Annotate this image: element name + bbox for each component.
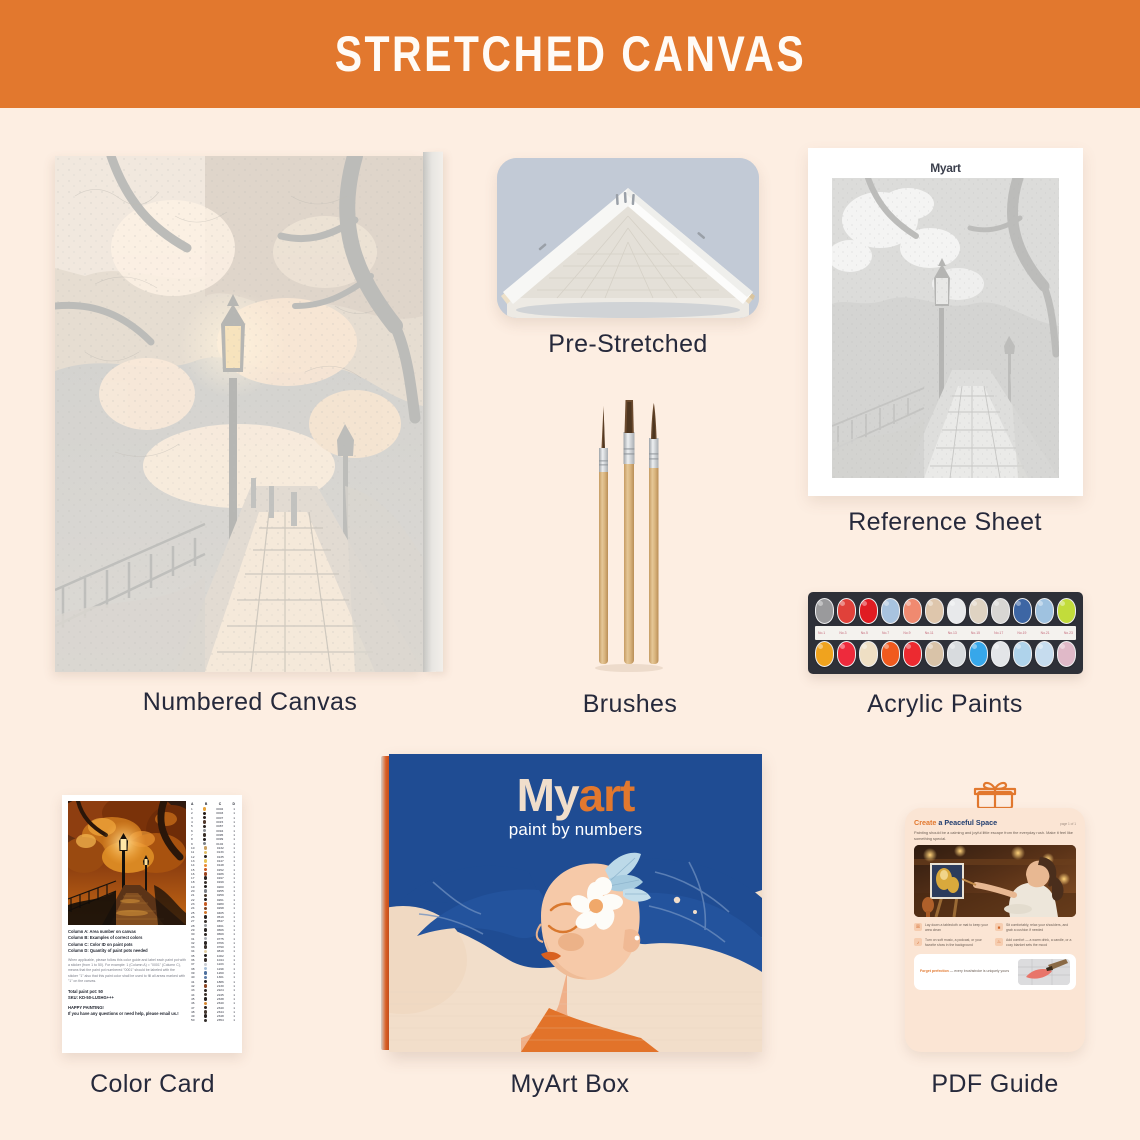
cc-cell-qty: 1 bbox=[233, 1018, 235, 1022]
pdf-tip-text: Add comfort — a warm drink, a candle, or… bbox=[1006, 938, 1073, 948]
canvas-front-face bbox=[55, 156, 423, 672]
cc-head-b: B bbox=[205, 802, 207, 806]
paint-pot-bottom-2 bbox=[837, 641, 856, 667]
pdf-header: Create a Peaceful Space page 1 of 1 bbox=[914, 818, 1076, 827]
cc-head-c: C bbox=[219, 802, 221, 806]
pdf-guide-card: Create a Peaceful Space page 1 of 1 Pain… bbox=[905, 808, 1085, 1052]
box-illustration bbox=[389, 842, 762, 1052]
cushion-icon: ■ bbox=[995, 923, 1003, 931]
paint-pot-bottom-1 bbox=[815, 641, 834, 667]
paint-pot-top-3 bbox=[859, 598, 878, 624]
woman-painting-photo bbox=[914, 845, 1076, 917]
paint-pot-bottom-11 bbox=[1035, 641, 1054, 667]
paint-pot-top-9 bbox=[991, 598, 1010, 624]
brush-liner bbox=[599, 406, 608, 664]
paint-code-10: No.19 bbox=[1017, 631, 1026, 635]
label-pdf-guide: PDF Guide bbox=[890, 1070, 1100, 1099]
pdf-tip: ☒Lay down a tablecloth or mat to keep yo… bbox=[914, 923, 995, 933]
cc-head-d: D bbox=[233, 802, 235, 806]
paint-label-strip: No.1No.3No.5No.7No.9No.11No.13No.15No.17… bbox=[815, 626, 1076, 640]
brush-set bbox=[575, 390, 685, 672]
cc-cell-id: 2354 bbox=[217, 1018, 224, 1022]
cc-legend-d: Column D: Quantity of paint pots needed bbox=[68, 948, 186, 954]
paint-pot-top-7 bbox=[947, 598, 966, 624]
cc-cell-swatch bbox=[204, 872, 207, 875]
cc-cell-swatch bbox=[204, 941, 207, 944]
label-acrylic-paints: Acrylic Paints bbox=[795, 690, 1095, 719]
paint-pot-top-1 bbox=[815, 598, 834, 624]
box-logo: Myart paint by numbers bbox=[389, 772, 762, 840]
box-front-face: Myart paint by numbers bbox=[389, 754, 762, 1052]
canvas-side-edge bbox=[423, 152, 443, 672]
paint-tray: No.1No.3No.5No.7No.9No.11No.13No.15No.17… bbox=[808, 592, 1083, 674]
paint-pot-top-4 bbox=[881, 598, 900, 624]
paint-pot-top-6 bbox=[925, 598, 944, 624]
paint-pot-bottom-5 bbox=[903, 641, 922, 667]
pre-stretched bbox=[497, 158, 759, 318]
gift-icon bbox=[972, 780, 1018, 810]
cc-table-row: 5023541 bbox=[190, 1018, 236, 1022]
pdf-title: Create a Peaceful Space bbox=[914, 818, 997, 827]
paint-code-3: No.5 bbox=[861, 631, 868, 635]
color-card-instructions: Column A: Area number on canvas Column B… bbox=[68, 925, 186, 1048]
brush-round bbox=[649, 403, 659, 664]
pdf-hero-photo bbox=[914, 845, 1076, 917]
pdf-tip-text: Turn on soft music, a podcast, or your f… bbox=[925, 938, 992, 948]
paint-row-top bbox=[815, 598, 1076, 625]
paint-code-7: No.13 bbox=[948, 631, 957, 635]
paint-code-1: No.1 bbox=[818, 631, 825, 635]
paint-pot-top-11 bbox=[1035, 598, 1054, 624]
myart-box: Myart paint by numbers bbox=[381, 754, 762, 1052]
brushstroke-photo bbox=[1018, 959, 1070, 985]
paint-pot-bottom-6 bbox=[925, 641, 944, 667]
cc-paragraph: When applicable, please follow this colo… bbox=[68, 958, 186, 985]
pdf-footer-image bbox=[1018, 959, 1070, 985]
cc-cell-swatch bbox=[204, 1010, 207, 1013]
paint-code-4: No.7 bbox=[882, 631, 889, 635]
paint-pot-bottom-9 bbox=[991, 641, 1010, 667]
paint-pot-bottom-8 bbox=[969, 641, 988, 667]
paint-code-12: No.23 bbox=[1064, 631, 1073, 635]
cc-sku: SKU: KD-50-LUSHG+++ bbox=[68, 995, 186, 1001]
box-logo-wordmark: Myart bbox=[389, 772, 762, 818]
acrylic-paints: No.1No.3No.5No.7No.9No.11No.13No.15No.17… bbox=[808, 592, 1083, 674]
cc-cell-swatch bbox=[204, 1019, 207, 1022]
pdf-tips-list: ☒Lay down a tablecloth or mat to keep yo… bbox=[914, 923, 1076, 953]
paint-pot-top-5 bbox=[903, 598, 922, 624]
paint-pot-top-10 bbox=[1013, 598, 1032, 624]
label-reference-sheet: Reference Sheet bbox=[795, 508, 1095, 537]
paint-pot-top-8 bbox=[969, 598, 988, 624]
pdf-title-accent: Create bbox=[914, 818, 936, 827]
canvas-corner-photo bbox=[497, 158, 759, 318]
header-banner: STRETCHED CANVAS bbox=[0, 0, 1140, 108]
label-pre-stretched: Pre-Stretched bbox=[467, 330, 789, 359]
paint-pot-bottom-4 bbox=[881, 641, 900, 667]
cc-cell-swatch bbox=[204, 997, 207, 1000]
paint-code-5: No.9 bbox=[903, 631, 910, 635]
cc-cell-swatch bbox=[204, 915, 207, 918]
candle-icon: ♨ bbox=[995, 938, 1003, 946]
pre-stretched-card bbox=[497, 158, 759, 318]
box-logo-art: art bbox=[579, 769, 635, 821]
paint-row-bottom bbox=[815, 641, 1076, 668]
paint-code-11: No.21 bbox=[1041, 631, 1050, 635]
label-brushes: Brushes bbox=[470, 690, 790, 719]
paint-pot-bottom-12 bbox=[1057, 641, 1076, 667]
cc-contact: If you have any questions or need help, … bbox=[68, 1011, 186, 1017]
cc-cell-a: 50 bbox=[191, 1018, 194, 1022]
cc-cell-swatch bbox=[204, 984, 207, 987]
pdf-guide: Create a Peaceful Space page 1 of 1 Pain… bbox=[905, 780, 1085, 1052]
paint-pot-bottom-3 bbox=[859, 641, 878, 667]
paint-pot-bottom-7 bbox=[947, 641, 966, 667]
pdf-footer-rest: — every brushstroke is uniquely yours bbox=[949, 969, 1009, 973]
cc-cell-swatch bbox=[204, 846, 207, 849]
brushes bbox=[575, 390, 685, 672]
box-logo-my: My bbox=[517, 769, 579, 821]
color-card-paper: Column A: Area number on canvas Column B… bbox=[62, 795, 242, 1053]
reference-sheet-logo: Myart bbox=[826, 160, 1065, 176]
label-color-card: Color Card bbox=[50, 1070, 255, 1099]
paint-pot-top-2 bbox=[837, 598, 856, 624]
cc-head-a: A bbox=[191, 802, 193, 806]
pdf-tip: ♪Turn on soft music, a podcast, or your … bbox=[914, 938, 995, 948]
paint-code-8: No.15 bbox=[971, 631, 980, 635]
pdf-title-rest: a Peaceful Space bbox=[936, 818, 997, 827]
reference-sheet: Myart bbox=[808, 148, 1083, 496]
color-card-table: A B C D 10002120003130007140015150087160… bbox=[190, 801, 236, 1048]
music-icon: ♪ bbox=[914, 938, 922, 946]
phone-off-icon: ☒ bbox=[914, 923, 922, 931]
paint-pot-bottom-10 bbox=[1013, 641, 1032, 667]
pdf-tip-text: Lay down a tablecloth or mat to keep you… bbox=[925, 923, 992, 933]
reference-sheet-paper: Myart bbox=[808, 148, 1083, 496]
cc-cell-swatch bbox=[203, 807, 206, 810]
paint-code-6: No.11 bbox=[925, 631, 934, 635]
page-title: STRETCHED CANVAS bbox=[334, 25, 805, 83]
brush-flat bbox=[624, 400, 635, 664]
autumn-scene-photo bbox=[68, 801, 186, 925]
cc-cell-swatch bbox=[203, 833, 206, 836]
box-logo-subtitle: paint by numbers bbox=[389, 820, 762, 840]
pdf-page-number: page 1 of 1 bbox=[1060, 822, 1076, 826]
reference-line-drawing bbox=[832, 178, 1059, 478]
cc-cell-swatch bbox=[204, 928, 207, 931]
color-card: Column A: Area number on canvas Column B… bbox=[62, 795, 242, 1053]
label-numbered-canvas: Numbered Canvas bbox=[55, 688, 445, 717]
reference-sheet-artwork bbox=[832, 178, 1059, 478]
paint-code-2: No.3 bbox=[839, 631, 846, 635]
numbered-canvas bbox=[55, 152, 445, 672]
label-myart-box: MyArt Box bbox=[400, 1070, 740, 1099]
pdf-footer-bold: Forget perfection bbox=[920, 969, 949, 973]
pdf-subtitle: Painting should be a calming and joyful … bbox=[914, 830, 1076, 841]
pdf-tip: ■Sit comfortably, relax your shoulders, … bbox=[995, 923, 1076, 933]
paint-code-9: No.17 bbox=[994, 631, 1003, 635]
pdf-footer-text: Forget perfection — every brushstroke is… bbox=[920, 969, 1013, 974]
cc-cell-swatch bbox=[203, 820, 206, 823]
color-card-photo bbox=[68, 801, 186, 925]
pdf-tip-text: Sit comfortably, relax your shoulders, a… bbox=[1006, 923, 1073, 933]
canvas-pbn-artwork bbox=[55, 156, 423, 672]
pdf-tip: ♨Add comfort — a warm drink, a candle, o… bbox=[995, 938, 1076, 948]
paint-pot-top-12 bbox=[1057, 598, 1076, 624]
cc-cell-swatch bbox=[204, 859, 207, 862]
pdf-footer-note: Forget perfection — every brushstroke is… bbox=[914, 954, 1076, 990]
